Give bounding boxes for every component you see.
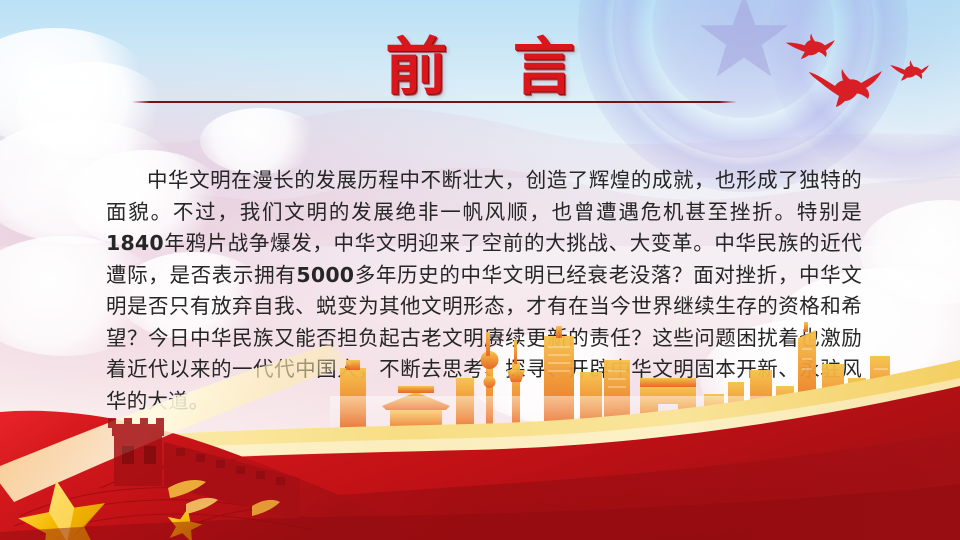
bottom-decoration	[0, 320, 960, 540]
title-divider	[132, 101, 737, 103]
body-emphasis-number: 5000	[296, 263, 354, 287]
page-title-block: 前 言	[0, 34, 960, 101]
slide-canvas: 前 言 中华文明在漫长的发展历程中不断壮大，创造了辉煌的成就，也形成了独特的面貌…	[0, 0, 960, 540]
body-emphasis-number: 1840	[106, 231, 164, 255]
page-title: 前 言	[363, 34, 597, 101]
body-text-segment: 中华文明在漫长的发展历程中不断壮大，创造了辉煌的成就，也形成了独特的面貌。不过，…	[106, 168, 862, 224]
